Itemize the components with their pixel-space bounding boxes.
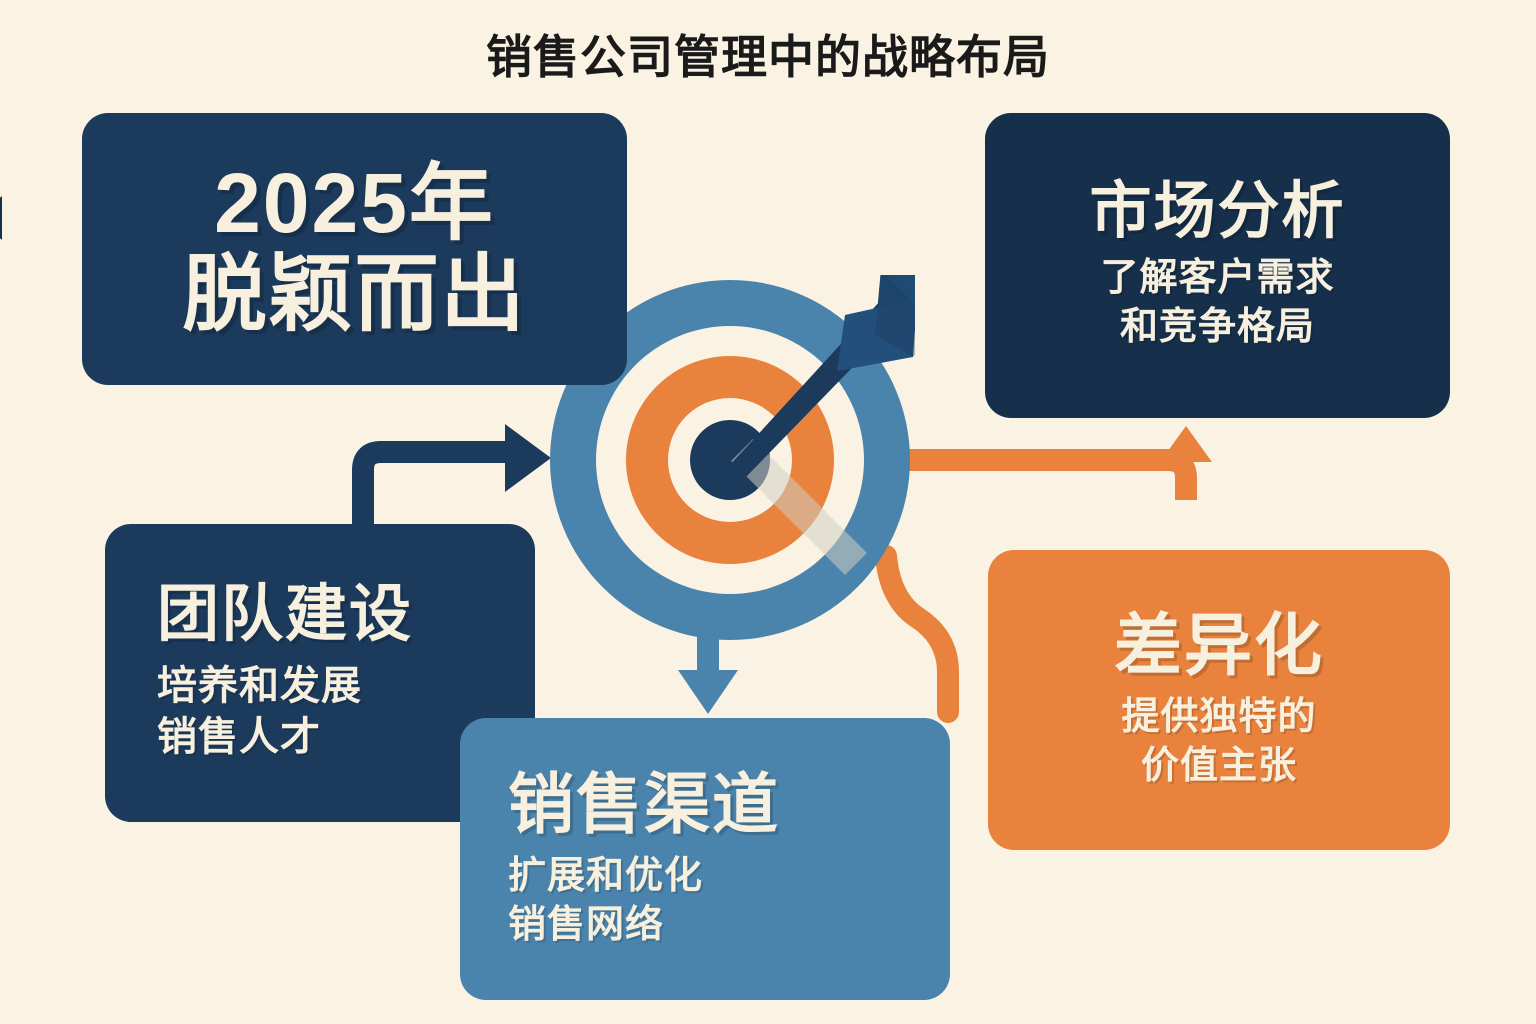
team-building-sub-line-1: 培养和发展 — [157, 661, 535, 712]
page-title: 销售公司管理中的战略布局 — [0, 34, 1536, 80]
market-analysis-sub-line-1: 了解客户需求 — [1100, 254, 1334, 303]
market-analysis-subtitle: 了解客户需求 和竞争格局 — [1100, 254, 1334, 351]
market-analysis-sub-line-2: 和竞争格局 — [1100, 303, 1334, 352]
differentiation-card: 差异化 提供独特的 价值主张 — [988, 550, 1450, 850]
hero-line-2: 脱颖而出 — [182, 249, 526, 340]
differentiation-sub-line-2: 价值主张 — [1121, 742, 1316, 791]
sales-channel-subtitle: 扩展和优化 销售网络 — [508, 852, 950, 949]
differentiation-sub-line-1: 提供独特的 — [1121, 693, 1316, 742]
team-building-title: 团队建设 — [157, 582, 535, 649]
sales-channel-card: 销售渠道 扩展和优化 销售网络 — [460, 718, 950, 1000]
sales-channel-title: 销售渠道 — [508, 769, 950, 840]
market-analysis-title: 市场分析 — [1089, 179, 1345, 246]
differentiation-title: 差异化 — [1114, 610, 1324, 683]
infographic-canvas: 销售公司管理中的战略布局 — [0, 0, 1536, 1024]
sales-channel-sub-line-2: 销售网络 — [508, 901, 950, 950]
market-analysis-notch-icon — [0, 196, 2, 240]
differentiation-subtitle: 提供独特的 价值主张 — [1121, 693, 1316, 790]
hero-banner-card: 2025年 脱颖而出 — [82, 113, 627, 385]
connector-team-to-target-icon — [363, 424, 551, 530]
sales-channel-sub-line-1: 扩展和优化 — [508, 852, 950, 901]
hero-line-1: 2025年 — [214, 158, 495, 249]
market-analysis-card: 市场分析 了解客户需求 和竞争格局 — [985, 113, 1450, 418]
